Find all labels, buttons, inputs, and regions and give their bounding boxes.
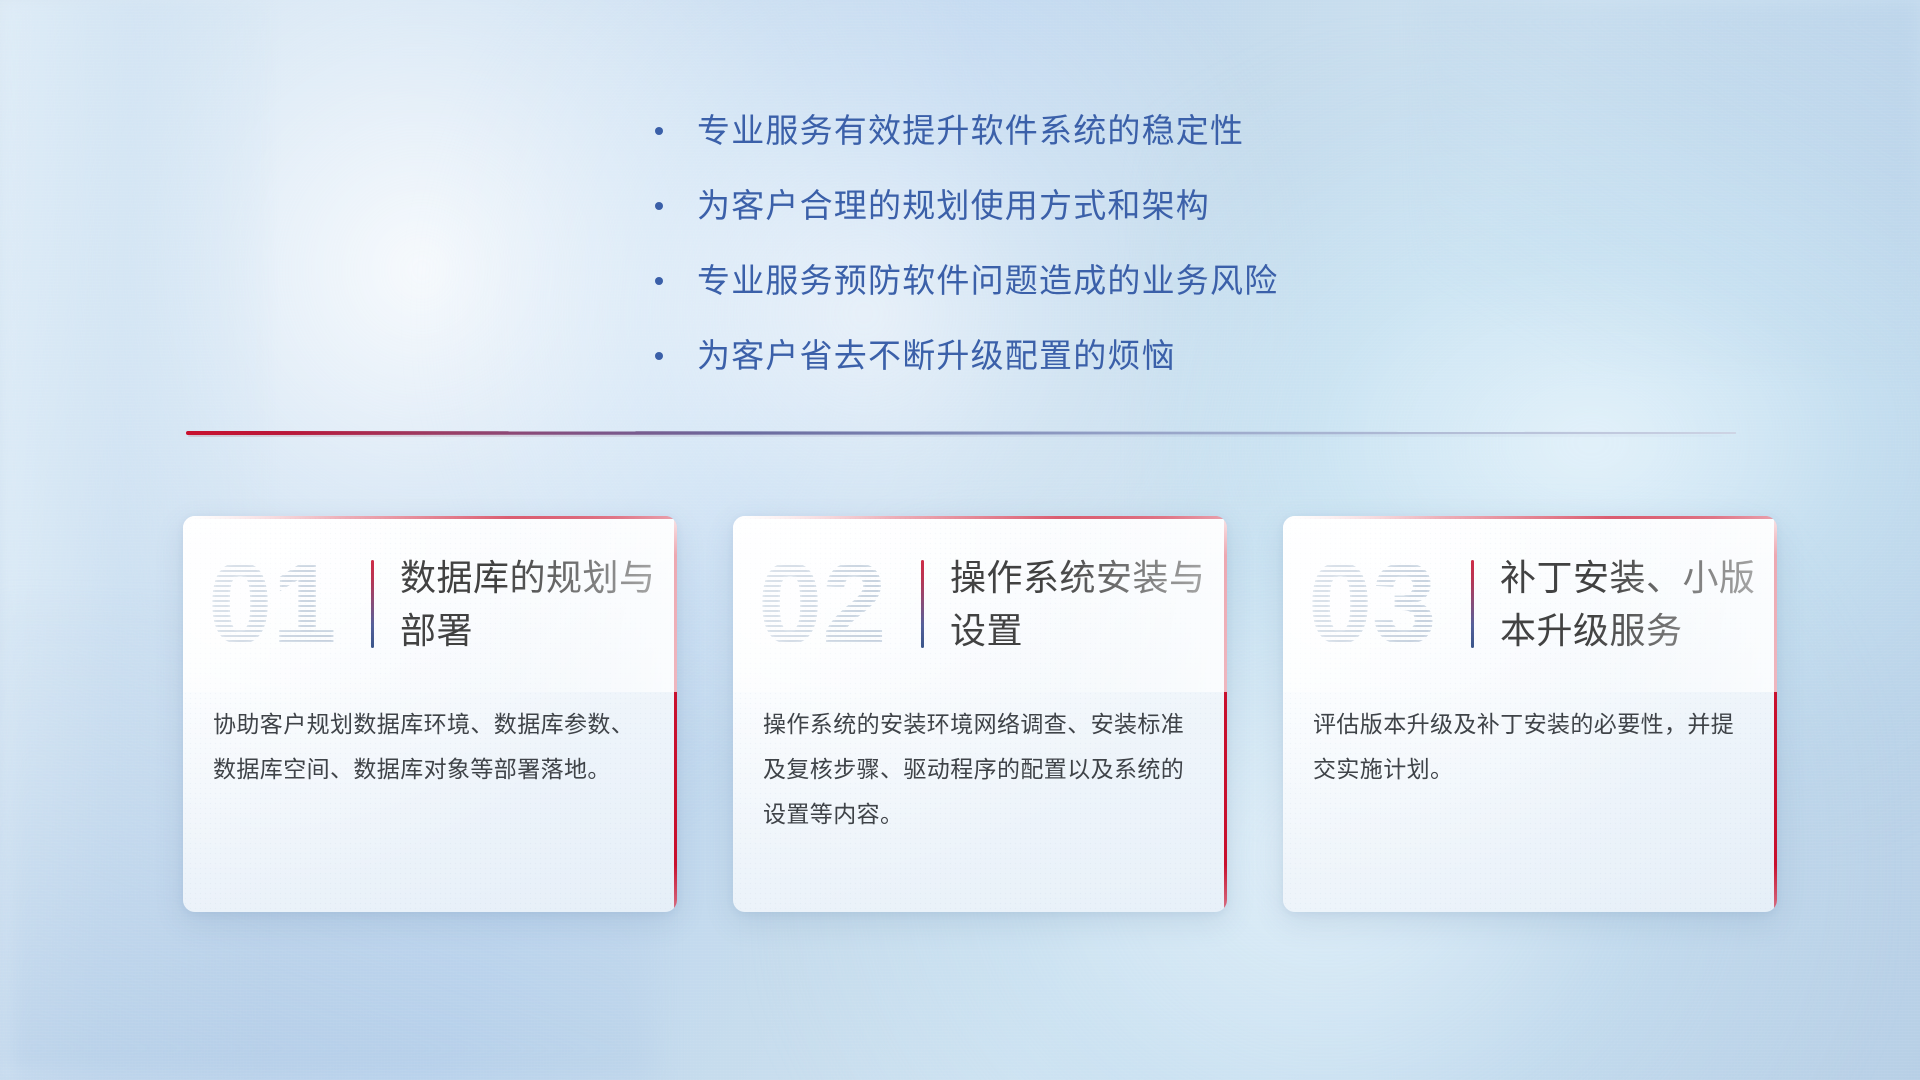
benefits-bullet-list: 专业服务有效提升软件系统的稳定性 为客户合理的规划使用方式和架构 专业服务预防软… (655, 108, 1415, 408)
card-header: 02 操作系统安装与设置 (733, 516, 1227, 692)
list-item: 专业服务有效提升软件系统的稳定性 (655, 108, 1415, 154)
card-description: 协助客户规划数据库环境、数据库参数、数据库空间、数据库对象等部署落地。 (183, 692, 677, 792)
bullet-text: 专业服务预防软件问题造成的业务风险 (697, 258, 1278, 304)
bullet-dot-icon (655, 277, 663, 285)
bullet-text: 为客户省去不断升级配置的烦恼 (697, 333, 1176, 379)
card-number-ghost: 03 (1309, 545, 1463, 663)
service-card-01[interactable]: 01 数据库的规划与部署 协助客户规划数据库环境、数据库参数、数据库空间、数据库… (183, 516, 677, 912)
service-card-02[interactable]: 02 操作系统安装与设置 操作系统的安装环境网络调查、安装标准及复核步骤、驱动程… (733, 516, 1227, 912)
card-title: 操作系统安装与设置 (950, 551, 1227, 657)
service-card-group: 01 数据库的规划与部署 协助客户规划数据库环境、数据库参数、数据库空间、数据库… (183, 516, 1777, 912)
service-card-03[interactable]: 03 补丁安装、小版本升级服务 评估版本升级及补丁安装的必要性，并提交实施计划。 (1283, 516, 1777, 912)
card-title-accent-bar (1471, 560, 1474, 648)
bullet-text: 为客户合理的规划使用方式和架构 (697, 183, 1210, 229)
card-description: 操作系统的安装环境网络调查、安装标准及复核步骤、驱动程序的配置以及系统的设置等内… (733, 692, 1227, 837)
card-description: 评估版本升级及补丁安装的必要性，并提交实施计划。 (1283, 692, 1777, 792)
section-divider (186, 430, 1736, 437)
card-title-accent-bar (921, 560, 924, 648)
bullet-text: 专业服务有效提升软件系统的稳定性 (697, 108, 1244, 154)
bullet-dot-icon (655, 202, 663, 210)
bullet-dot-icon (655, 127, 663, 135)
card-header: 01 数据库的规划与部署 (183, 516, 677, 692)
bullet-dot-icon (655, 352, 663, 360)
divider-gradient-bar (186, 431, 1736, 435)
list-item: 为客户省去不断升级配置的烦恼 (655, 333, 1415, 379)
slide-canvas: 专业服务有效提升软件系统的稳定性 为客户合理的规划使用方式和架构 专业服务预防软… (0, 0, 1920, 1080)
card-title: 补丁安装、小版本升级服务 (1500, 551, 1777, 657)
list-item: 专业服务预防软件问题造成的业务风险 (655, 258, 1415, 304)
card-header: 03 补丁安装、小版本升级服务 (1283, 516, 1777, 692)
card-number-ghost: 02 (759, 545, 913, 663)
list-item: 为客户合理的规划使用方式和架构 (655, 183, 1415, 229)
card-number-ghost: 01 (209, 545, 363, 663)
card-title: 数据库的规划与部署 (400, 551, 677, 657)
card-title-accent-bar (371, 560, 374, 648)
